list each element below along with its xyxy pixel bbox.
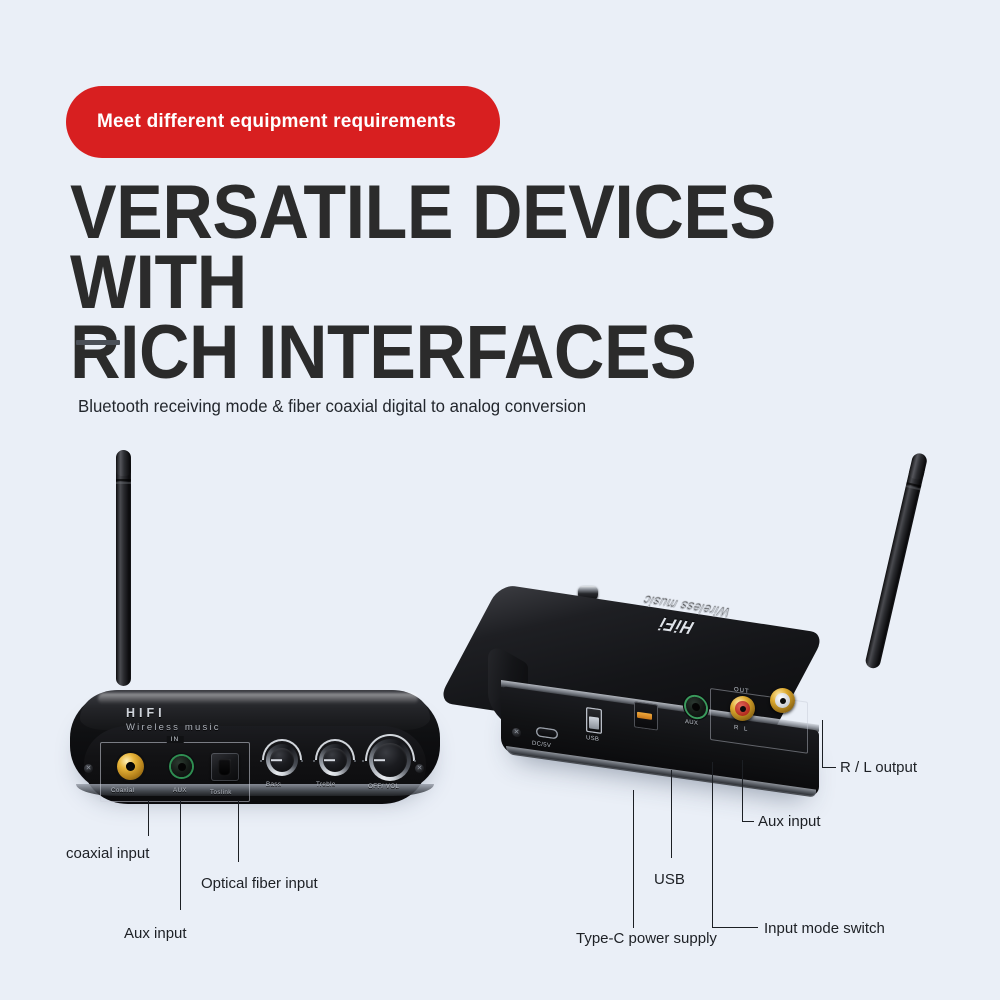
callout-coaxial-input: coaxial input (66, 845, 149, 862)
leader-usb (671, 770, 672, 858)
leader-aux-v (742, 760, 743, 822)
subheading: Bluetooth receiving mode & fiber coaxial… (78, 396, 586, 417)
volume-knob[interactable] (369, 739, 411, 781)
treble-knob-label: Treble (316, 781, 336, 788)
coaxial-rca-jack[interactable] (117, 753, 144, 780)
antenna-left (116, 450, 131, 686)
switch-slider-handle[interactable] (637, 712, 652, 720)
leader-aux (180, 800, 181, 910)
title-divider (76, 340, 120, 345)
antenna-right (864, 452, 928, 670)
leader-rl-output-v (822, 720, 823, 768)
screw-icon-right: ✕ (415, 764, 424, 773)
callout-aux-input: Aux input (758, 813, 821, 830)
top-highlight (98, 693, 418, 704)
input-port-group: IN Coaxial AUX Toslink (100, 742, 250, 802)
coaxial-port-label: Coaxial (111, 787, 134, 794)
leader-switch-v (712, 762, 713, 928)
aux-jack[interactable] (171, 756, 192, 777)
input-mode-switch[interactable] (634, 701, 658, 730)
brand-name: HIFI (126, 706, 221, 720)
rca-output-left[interactable] (770, 688, 795, 713)
headline-badge: Meet different equipment requirements (66, 86, 500, 158)
leader-coaxial (148, 800, 149, 836)
bass-knob[interactable] (266, 744, 298, 776)
treble-knob[interactable] (319, 744, 351, 776)
leader-optical (238, 800, 239, 862)
volume-knob-label: OFF/ VOL (368, 783, 399, 790)
toslink-optical-port[interactable] (211, 753, 239, 781)
leader-rl-output-h (822, 767, 836, 768)
screw-icon: ✕ (512, 727, 521, 737)
callout-usb: USB (654, 871, 685, 888)
screw-icon-left: ✕ (84, 764, 93, 773)
device-left-body: HIFI Wireless music ✕ ✕ IN Coaxial AUX T… (70, 690, 440, 794)
leader-type-c (633, 790, 634, 928)
brand-tagline: Wireless music (126, 722, 221, 733)
bass-knob-label: Bass (266, 781, 281, 788)
device-left-front-view: HIFI Wireless music ✕ ✕ IN Coaxial AUX T… (70, 676, 440, 804)
badge-label: Meet different equipment requirements (97, 111, 456, 133)
toslink-port-label: Toslink (210, 789, 232, 796)
callout-optical-fiber-input: Optical fiber input (201, 875, 318, 892)
marketing-banner: Meet different equipment requirements VE… (0, 0, 1000, 1000)
antenna-tip-icon (908, 452, 928, 481)
headline-line-2: RICH INTERFACES (70, 318, 880, 388)
headline-line-1: VERSATILE DEVICES WITH (70, 170, 776, 325)
callout-aux-input: Aux input (124, 925, 187, 942)
callout-input-mode-switch: Input mode switch (764, 920, 885, 937)
rca-output-right[interactable] (730, 696, 755, 721)
callout-type-c-power: Type-C power supply (576, 930, 717, 947)
leader-aux-h (742, 821, 754, 822)
callout-rl-output: R / L output (840, 759, 917, 776)
leader-switch-h (712, 927, 758, 928)
device-right-angled-view: HiFi Wireless music ✕ DC/5V USB AUX OUT … (482, 560, 882, 810)
input-group-label: IN (167, 736, 184, 743)
antenna-tip-icon (116, 450, 131, 476)
usb-a-port[interactable] (586, 707, 602, 734)
brand-block-left: HIFI Wireless music (126, 706, 221, 733)
page-title: VERSATILE DEVICES WITH RICH INTERFACES (70, 178, 880, 388)
aux-port-label: AUX (173, 787, 187, 794)
